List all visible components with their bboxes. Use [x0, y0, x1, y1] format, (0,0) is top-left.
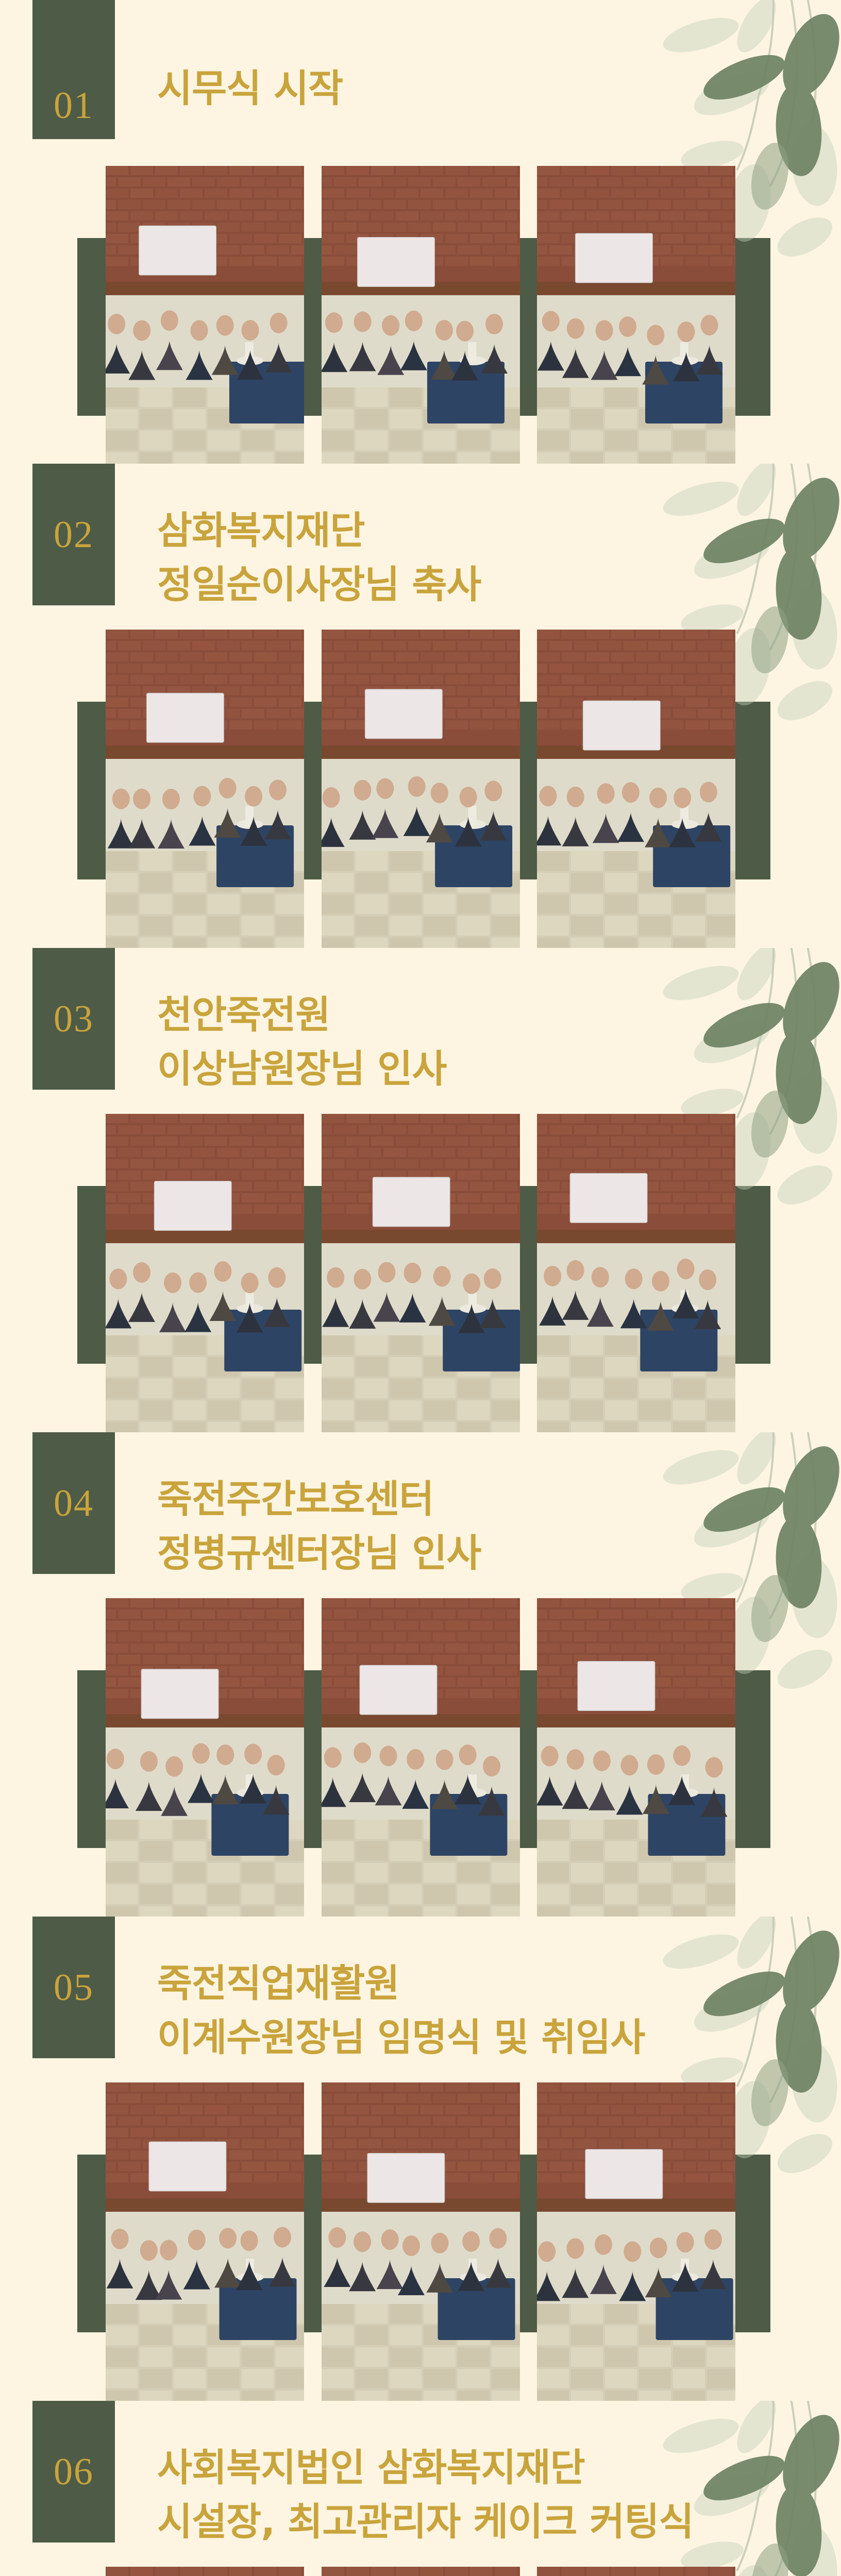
photo-album-page: 01 시무식 시작	[0, 0, 841, 2576]
event-photo[interactable]	[106, 630, 304, 948]
event-photo[interactable]	[537, 166, 735, 464]
photo-strip	[106, 166, 735, 464]
section-number: 06	[54, 2453, 94, 2491]
section-number: 02	[54, 516, 94, 554]
event-photo[interactable]	[537, 1114, 735, 1432]
event-section-03: 03 천안죽전원이상남원장님 인사	[0, 948, 841, 1432]
section-title-04: 죽전주간보호센터정병규센터장님 인사	[157, 1472, 481, 1581]
section-title-line: 죽전직업재활원	[157, 1957, 645, 2011]
event-photo[interactable]	[106, 1598, 304, 1917]
event-photo[interactable]	[106, 2567, 304, 2576]
event-photo[interactable]	[322, 2567, 520, 2576]
section-number: 04	[54, 1484, 94, 1522]
section-title-line: 시설장, 최고관리자 케이크 커팅식	[157, 2495, 694, 2549]
section-title-line: 이상남원장님 인사	[157, 1042, 446, 1096]
section-title-line: 사회복지법인 삼화복지재단	[157, 2441, 694, 2495]
section-number: 03	[54, 1000, 94, 1038]
section-number: 01	[54, 87, 94, 125]
section-title-line: 천안죽전원	[157, 988, 446, 1042]
event-section-04: 04 죽전주간보호센터정병규센터장님 인사	[0, 1432, 841, 1917]
section-title-line: 정병규센터장님 인사	[157, 1527, 481, 1581]
section-title-03: 천안죽전원이상남원장님 인사	[157, 988, 446, 1096]
event-photo[interactable]	[106, 166, 304, 464]
section-number-badge: 01	[32, 0, 115, 139]
event-photo[interactable]	[537, 630, 735, 948]
event-photo[interactable]	[537, 2567, 735, 2576]
section-title-line: 이계수원장님 임명식 및 취임사	[157, 2011, 645, 2065]
event-photo[interactable]	[537, 1598, 735, 1917]
section-title-06: 사회복지법인 삼화복지재단시설장, 최고관리자 케이크 커팅식	[157, 2441, 694, 2549]
event-section-05: 05 죽전직업재활원이계수원장님 임명식 및 취임사	[0, 1917, 841, 2401]
section-number-badge: 06	[32, 2401, 115, 2543]
photo-strip	[106, 630, 735, 948]
photo-strip	[106, 2082, 735, 2401]
event-section-06: 06 사회복지법인 삼화복지재단시설장, 최고관리자 케이크 커팅식	[0, 2401, 841, 2576]
section-number-badge: 02	[32, 464, 115, 605]
section-title-line: 죽전주간보호센터	[157, 1472, 481, 1527]
photo-strip	[106, 1114, 735, 1432]
event-photo[interactable]	[106, 1114, 304, 1432]
section-number-badge: 04	[32, 1432, 115, 1574]
section-title-line: 삼화복지재단	[157, 504, 481, 558]
section-title-01: 시무식 시작	[157, 62, 343, 116]
section-number-badge: 05	[32, 1917, 115, 2058]
event-section-02: 02 삼화복지재단정일순이사장님 축사	[0, 464, 841, 948]
event-photo[interactable]	[106, 2082, 304, 2401]
section-title-05: 죽전직업재활원이계수원장님 임명식 및 취임사	[157, 1957, 645, 2065]
photo-strip	[106, 1598, 735, 1917]
section-title-02: 삼화복지재단정일순이사장님 축사	[157, 504, 481, 612]
section-title-line: 시무식 시작	[157, 62, 343, 116]
section-number: 05	[54, 1969, 94, 2007]
event-section-01: 01 시무식 시작	[0, 0, 841, 464]
photo-strip	[106, 2567, 735, 2576]
event-photo[interactable]	[322, 1114, 520, 1432]
event-photo[interactable]	[322, 2082, 520, 2401]
section-title-line: 정일순이사장님 축사	[157, 558, 481, 612]
section-number-badge: 03	[32, 948, 115, 1090]
event-photo[interactable]	[322, 1598, 520, 1917]
event-photo[interactable]	[537, 2082, 735, 2401]
event-photo[interactable]	[322, 166, 520, 464]
event-photo[interactable]	[322, 630, 520, 948]
